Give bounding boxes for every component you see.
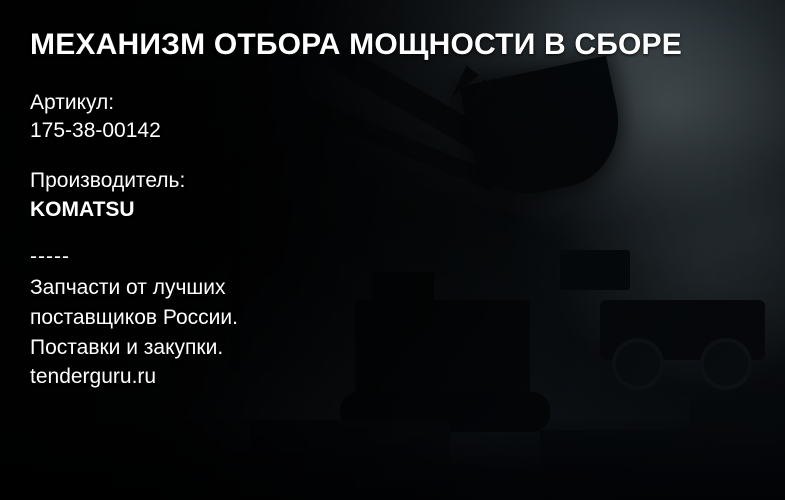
product-card: МЕХАНИЗМ ОТБОРА МОЩНОСТИ В СБОРЕ Артикул… (0, 0, 785, 500)
field-manufacturer: Производитель: KOMATSU (30, 167, 785, 224)
field-article-label: Артикул: (30, 89, 785, 117)
card-content: МЕХАНИЗМ ОТБОРА МОЩНОСТИ В СБОРЕ Артикул… (0, 0, 785, 500)
divider: ----- (30, 246, 785, 267)
field-article-value: 175-38-00142 (30, 117, 785, 145)
footer-line-2: поставщиков России. (30, 303, 785, 333)
footer-line-1: Запчасти от лучших (30, 273, 785, 303)
footer-block: Запчасти от лучших поставщиков России. П… (30, 273, 785, 392)
page-title: МЕХАНИЗМ ОТБОРА МОЩНОСТИ В СБОРЕ (30, 28, 785, 63)
footer-line-3: Поставки и закупки. (30, 333, 785, 363)
footer-site-link[interactable]: tenderguru.ru (30, 362, 785, 392)
field-manufacturer-value: KOMATSU (30, 196, 785, 224)
field-article: Артикул: 175-38-00142 (30, 89, 785, 146)
field-manufacturer-label: Производитель: (30, 167, 785, 195)
